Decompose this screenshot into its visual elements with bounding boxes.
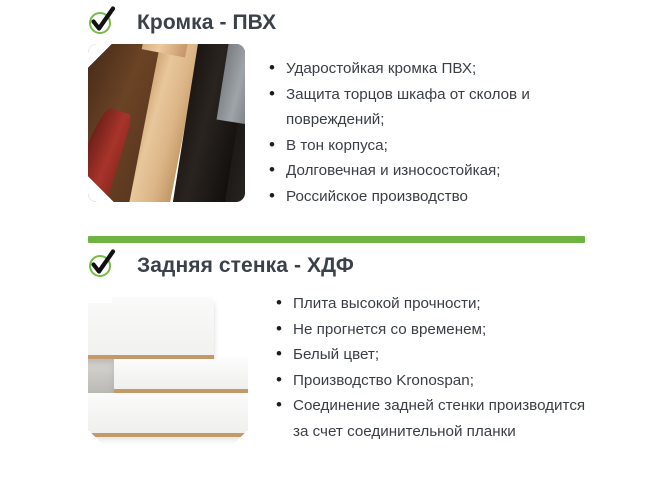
feature-list-back: Плита высокой прочности; Не прогнется со… [276,291,593,444]
list-item: Не прогнется со временем; [276,317,593,343]
section-edge-banding: Кромка - ПВХ Ударостойкая кромка ПВХ; За… [0,0,652,209]
hdf-boards-image [88,287,248,447]
list-item: Долговечная и износостойкая; [269,158,586,184]
list-item: Ударостойкая кромка ПВХ; [269,56,586,82]
section-divider [88,236,585,243]
list-item: Защита торцов шкафа от сколов и поврежде… [269,82,586,133]
page-title-edge: Кромка - ПВХ [137,12,276,33]
section-back-heading-row: Задняя стенка - ХДФ [0,243,652,287]
list-item: Соединение задней стенки производится за… [276,393,593,444]
list-item: В тон корпуса; [269,133,586,159]
page-title-back: Задняя стенка - ХДФ [137,255,354,276]
section-edge-heading-row: Кромка - ПВХ [0,0,652,44]
product-features-page: Кромка - ПВХ Ударостойкая кромка ПВХ; За… [0,0,652,500]
section-back-body: Плита высокой прочности; Не прогнется со… [0,287,652,447]
green-check-circle-icon [88,250,118,280]
list-item: Производство Kronospan; [276,368,593,394]
section-edge-body: Ударостойкая кромка ПВХ; Защита торцов ш… [0,44,652,209]
list-item: Плита высокой прочности; [276,291,593,317]
list-item: Белый цвет; [276,342,593,368]
section-back-panel: Задняя стенка - ХДФ Плита высокой прочно… [0,243,652,447]
feature-list-edge: Ударостойкая кромка ПВХ; Защита торцов ш… [269,56,586,209]
list-item: Российское производство [269,184,586,210]
green-check-circle-icon [88,7,118,37]
pvc-edge-banding-image [88,44,245,202]
